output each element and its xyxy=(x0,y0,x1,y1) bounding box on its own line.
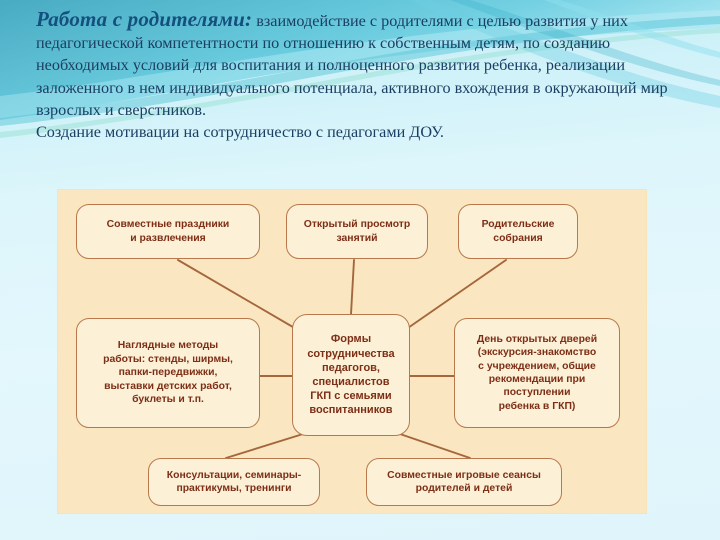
slide-text-block: Работа с родителями: взаимодействие с ро… xyxy=(36,8,696,143)
diagram-node-visual-methods[interactable]: Наглядные методы работы: стенды, ширмы, … xyxy=(76,318,260,428)
diagram-node-open-door-day[interactable]: День открытых дверей (экскурсия-знакомст… xyxy=(454,318,620,428)
diagram-node-parent-meetings[interactable]: Родительские собрания xyxy=(458,204,578,259)
main-paragraph: Работа с родителями: взаимодействие с ро… xyxy=(36,8,696,121)
second-paragraph: Создание мотивации на сотрудничество с п… xyxy=(36,121,696,143)
diagram-node-game-sessions[interactable]: Совместные игровые сеансы родителей и де… xyxy=(366,458,562,506)
diagram-node-open-view[interactable]: Открытый просмотр занятий xyxy=(286,204,428,259)
diagram-node-holidays[interactable]: Совместные праздники и развлечения xyxy=(76,204,260,259)
diagram-node-center[interactable]: Формы сотрудничества педагогов, специали… xyxy=(292,314,410,436)
lead-phrase: Работа с родителями: xyxy=(36,7,252,31)
diagram-node-consultations[interactable]: Консультации, семинары- практикумы, трен… xyxy=(148,458,320,506)
diagram-panel: Совместные праздники и развлечения Откры… xyxy=(58,190,646,513)
slide-canvas: Работа с родителями: взаимодействие с ро… xyxy=(0,0,720,540)
